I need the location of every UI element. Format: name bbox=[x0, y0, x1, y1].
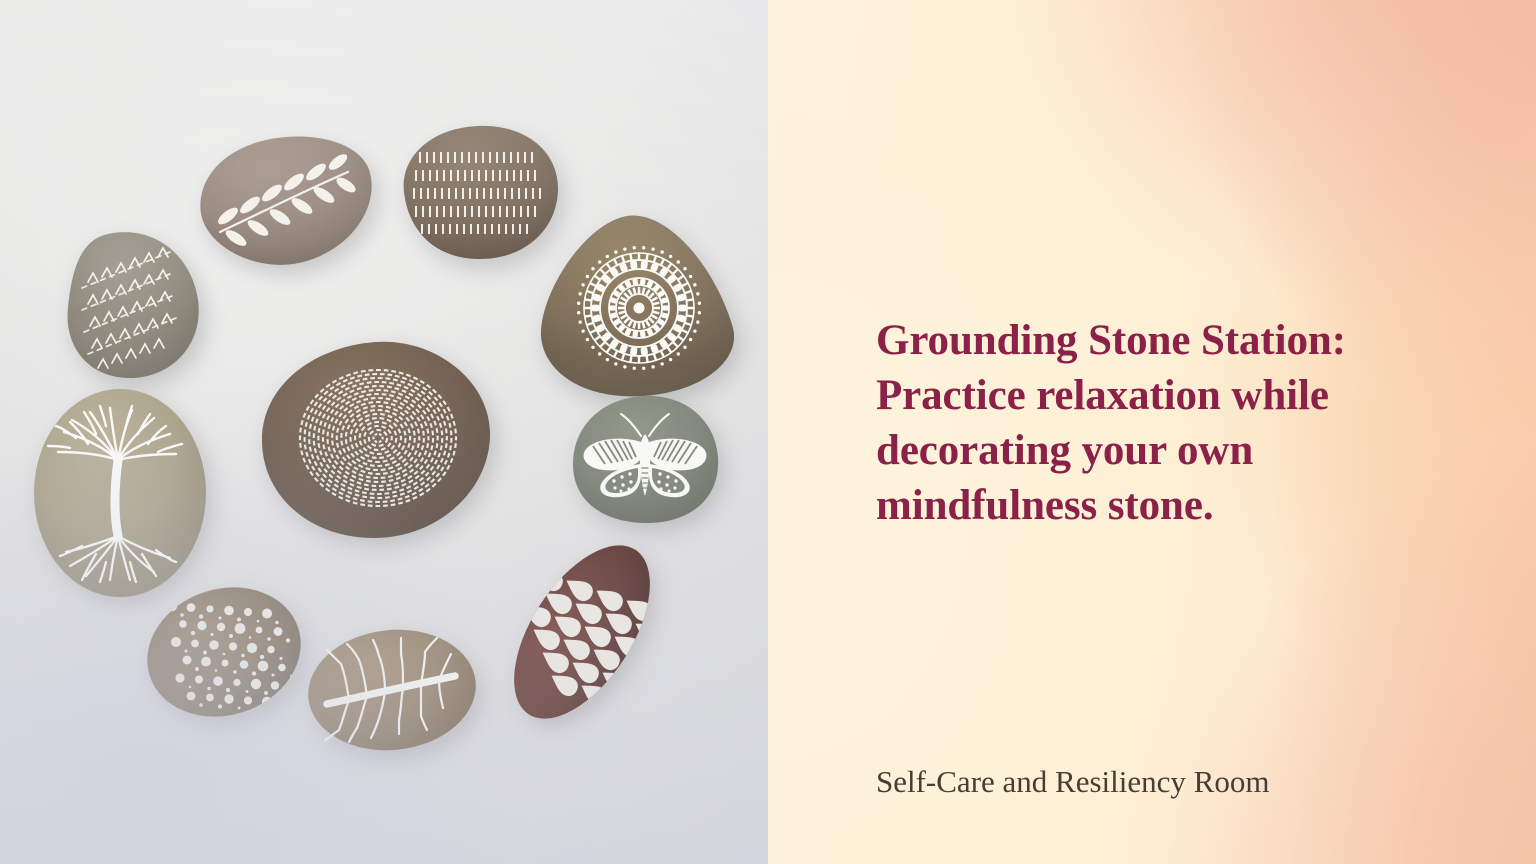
text-panel: Grounding Stone Station: Practice relaxa… bbox=[768, 0, 1536, 864]
stone-moth bbox=[568, 392, 723, 527]
stone-mandala bbox=[535, 210, 745, 400]
stone-chevrons bbox=[58, 228, 204, 383]
stone-photo bbox=[0, 0, 768, 864]
text-content: Grounding Stone Station: Practice relaxa… bbox=[768, 0, 1536, 864]
stone-raindrops bbox=[472, 522, 692, 742]
slide-root: Grounding Stone Station: Practice relaxa… bbox=[0, 0, 1536, 864]
stone-branch bbox=[305, 620, 480, 760]
slide-title: Grounding Stone Station: Practice relaxa… bbox=[876, 313, 1448, 533]
stone-dots bbox=[142, 580, 307, 725]
slide-footer: Self-Care and Resiliency Room bbox=[876, 763, 1476, 802]
stone-spiral bbox=[258, 338, 494, 542]
stone-tree bbox=[30, 386, 210, 600]
stone-leaf-sprig bbox=[192, 128, 377, 273]
